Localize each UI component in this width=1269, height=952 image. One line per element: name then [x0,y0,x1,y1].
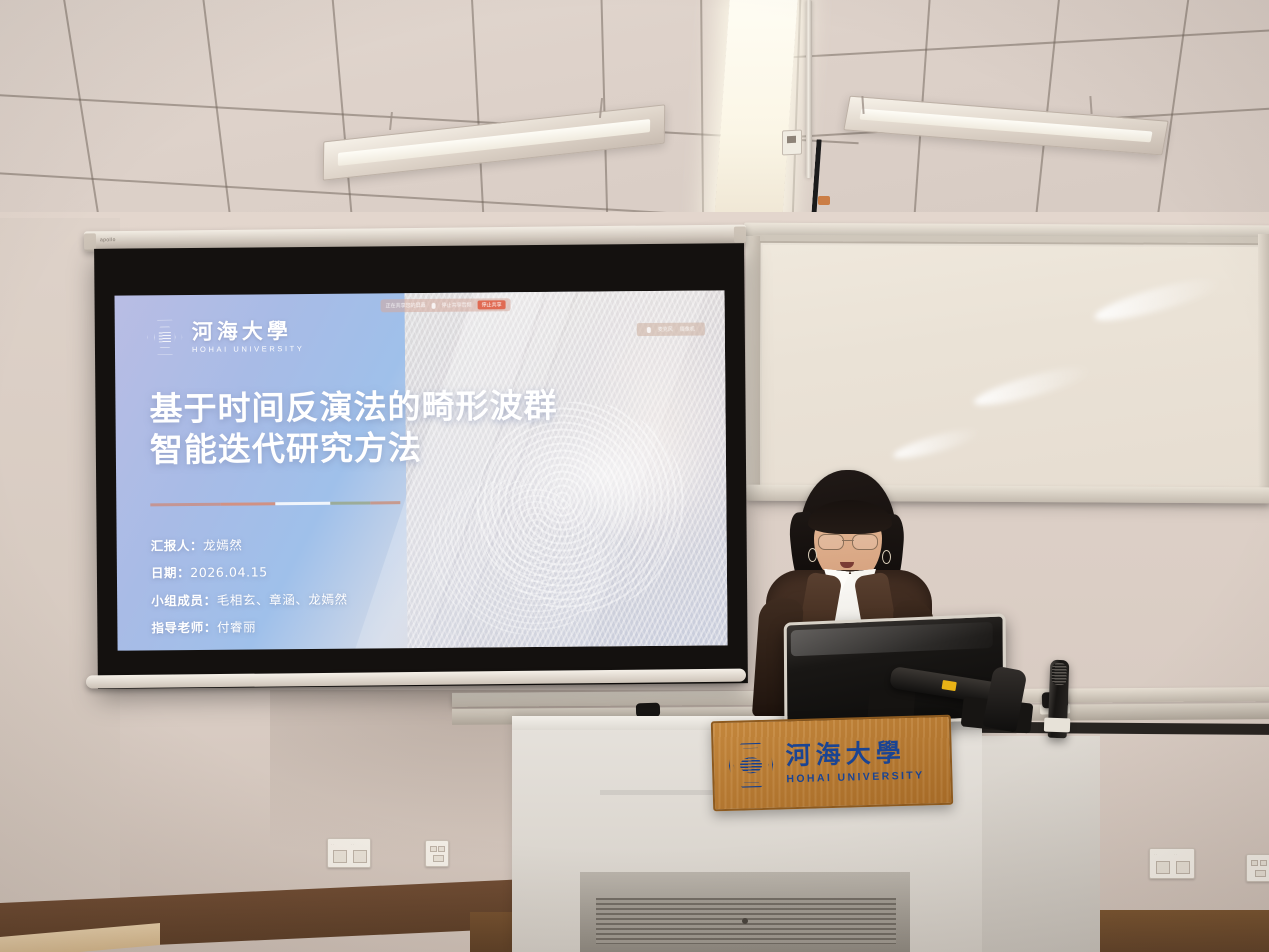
university-seal-icon [147,319,183,355]
slide-title-line2: 智能迭代研究方法 [150,426,670,471]
whiteboard-right-post [1258,234,1269,492]
microphone-icon [432,302,436,308]
slide-meta-line: 指导老师：付睿丽 [151,612,348,641]
divider-segment-3 [275,502,330,505]
meeting-device-toolbar[interactable]: 麦克风 摄像机 [637,323,705,337]
university-seal-icon-plaque [727,742,774,789]
lecture-hall-scene: · · · · · · · · [0,0,1269,952]
lectern-side-panel [982,736,1100,952]
slide-meta-label: 汇报人： [151,538,204,553]
divider-segment-5 [370,501,400,504]
slide-title-line1: 基于时间反演法的畸形波群 [149,385,669,430]
earring-left [808,548,817,562]
screen-share-status-text: 正在共享您的屏幕 [386,302,426,309]
earring-right [882,550,891,564]
slide-meta-value: 龙嫣然 [203,538,242,553]
slide-meta-value: 2026.04.15 [190,565,268,581]
whiteboard [751,235,1269,501]
microphone-icon-2 [647,326,651,332]
stop-share-button[interactable]: 停止共享 [478,300,506,309]
microphone-label-tag [1044,718,1070,733]
divider-segment-2 [220,502,275,505]
slide-meta-block: 汇报人：龙嫣然日期：2026.04.15小组成员：毛相玄、章涵、龙嫣然指导老师：… [151,531,348,642]
skylight-panel [714,0,798,222]
screen-share-toolbar[interactable]: 正在共享您的屏幕 停止共享音频 停止共享 [381,298,511,312]
ceiling-projector-mount [806,0,812,178]
arm-warning-sticker [942,680,957,691]
handheld-microphone[interactable] [1048,660,1070,739]
eyeglasses-icon [818,534,878,549]
presentation-slide: 河海大學 HOHAI UNIVERSITY 基于时间反演法的畸形波群 智能迭代研… [115,290,728,650]
whiteboard-left-post [746,236,760,492]
slide-university-logo: 河海大學 HOHAI UNIVERSITY [147,318,305,355]
power-outlet [425,840,449,867]
cable-collar [818,196,830,205]
screen-brand-label: apollo [100,237,116,243]
slide-logo-en: HOHAI UNIVERSITY [192,344,305,354]
slide-meta-value: 毛相玄、章涵、龙嫣然 [217,591,348,607]
slide-meta-line: 小组成员：毛相玄、章涵、龙嫣然 [151,585,348,614]
slide-meta-label: 小组成员： [151,592,217,608]
divider-segment-1 [150,503,220,507]
ceiling-light-right [843,96,1168,156]
slide-meta-label: 日期： [151,565,190,580]
data-port-plate-right: · · · · [1149,848,1195,879]
microphone-grille-icon [1051,663,1067,686]
slide-meta-value: 付睿丽 [217,619,256,634]
slide-divider-rule [150,501,400,506]
podium-plaque: 河海大學 HOHAI UNIVERSITY [711,715,953,812]
projection-screen: 河海大學 HOHAI UNIVERSITY 基于时间反演法的畸形波群 智能迭代研… [94,243,748,689]
slide-logo-cn: 河海大學 [192,320,305,342]
slide-meta-label: 指导老师： [151,620,217,636]
mic-device-label: 麦克风 [658,326,673,333]
plaque-text-en: HOHAI UNIVERSITY [786,769,924,785]
slide-meta-line: 汇报人：龙嫣然 [151,531,348,560]
plaque-text-cn: 河海大學 [785,739,924,768]
lectern-vent-screw [742,918,748,924]
divider-segment-4 [330,501,370,504]
data-port-plate: · · · · [327,838,371,868]
ceiling-sensor-icon [782,129,802,155]
slide-title: 基于时间反演法的畸形波群 智能迭代研究方法 [149,385,670,471]
power-outlet-right [1246,854,1269,882]
slide-meta-line: 日期：2026.04.15 [151,558,348,587]
camera-device-label: 摄像机 [680,326,695,333]
screen-share-audio-text: 停止共享音频 [442,302,472,309]
